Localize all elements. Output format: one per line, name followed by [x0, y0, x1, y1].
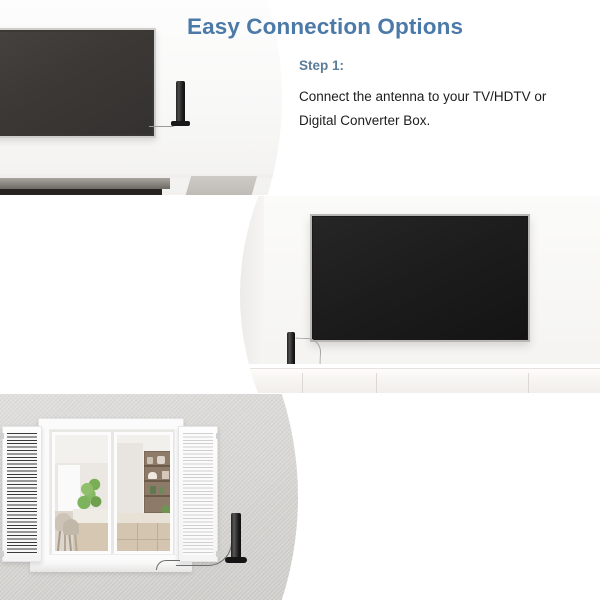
shelf-item — [157, 456, 165, 464]
shutter-hinge — [0, 433, 4, 439]
shutter-left — [2, 426, 42, 562]
window-pane-left — [52, 432, 111, 554]
antenna — [287, 332, 295, 368]
counter-top — [117, 513, 170, 523]
cabinet-seam — [117, 539, 170, 540]
antenna-cable — [156, 560, 180, 570]
step-2-photo — [238, 196, 600, 394]
shelf-item — [148, 472, 157, 479]
shelf-item — [150, 486, 156, 494]
infographic-page: Easy Connection Options Step 1: Connect … — [0, 0, 600, 600]
tv-screen — [313, 217, 527, 339]
media-shelf — [0, 178, 170, 189]
page-title: Easy Connection Options — [187, 14, 463, 40]
shelf-board — [144, 480, 173, 482]
console-seam — [376, 373, 377, 394]
shutter-hinge — [0, 551, 4, 557]
console-seam — [302, 373, 303, 394]
step-1-text: Step 1: Connect the antenna to your TV/H… — [299, 58, 587, 133]
shelf-item — [162, 471, 169, 479]
step-3-photo — [0, 394, 300, 600]
antenna-base — [171, 121, 190, 126]
step-1-panel: Easy Connection Options Step 1: Connect … — [0, 0, 600, 196]
antenna — [231, 513, 241, 559]
window-frame — [38, 418, 184, 564]
shelf-board — [144, 465, 173, 467]
media-console — [250, 368, 600, 394]
counter-top — [73, 509, 111, 523]
window-opening — [49, 429, 175, 555]
step-3-panel: Step 3: Scan for the channel and enjoy y… — [0, 394, 600, 600]
tv-screen — [0, 32, 152, 134]
dining-chair — [63, 519, 79, 535]
antenna — [176, 81, 185, 123]
shelf-board — [144, 495, 173, 497]
window-pane-right — [114, 432, 173, 554]
wall-slab — [185, 176, 257, 196]
television — [0, 28, 156, 138]
antenna-base — [225, 557, 247, 563]
louver-slats — [7, 433, 37, 555]
louver-slats — [183, 433, 213, 555]
step-1-body: Connect the antenna to your TV/HDTV or D… — [299, 85, 587, 133]
interior-ceiling — [55, 435, 108, 463]
step-1-label: Step 1: — [299, 58, 587, 73]
chair-leg — [64, 534, 66, 554]
shelf-item — [147, 457, 153, 464]
shelf-item — [159, 487, 164, 494]
television — [310, 214, 530, 342]
console-seam — [528, 373, 529, 394]
shutter-hinge — [216, 433, 220, 439]
step-2-panel: Step 2: Position the antenna on the tabl… — [0, 196, 600, 394]
